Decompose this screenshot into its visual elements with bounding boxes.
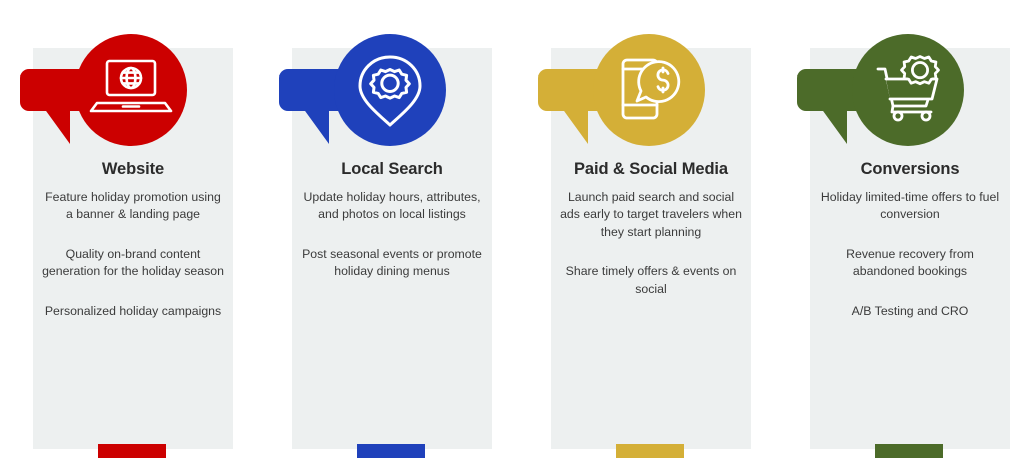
laptop-globe-icon: [91, 61, 171, 111]
icon-circle: [852, 34, 964, 146]
card-paragraph: Share timely offers & events on social: [559, 263, 743, 298]
accent-bar: [616, 444, 684, 458]
cart-gear-icon: [878, 57, 939, 121]
card-body-paid-social-media: Paid & Social Media Launch paid search a…: [551, 160, 751, 298]
card-paid-social-media[interactable]: Paid & Social Media Launch paid search a…: [551, 48, 751, 449]
card-paragraph: A/B Testing and CRO: [818, 303, 1002, 320]
icon-circle: [334, 34, 446, 146]
speech-bubble-shape: [538, 69, 658, 144]
speech-bubble-shape: [797, 69, 917, 144]
phone-dollar-bubble-icon: [623, 60, 679, 118]
accent-bar: [875, 444, 943, 458]
card-local-search[interactable]: Local Search Update holiday hours, attri…: [292, 48, 492, 449]
card-paragraph: Holiday limited-time offers to fuel conv…: [818, 189, 1002, 224]
icon-circle: [593, 34, 705, 146]
card-body-local-search: Local Search Update holiday hours, attri…: [292, 160, 492, 281]
card-paragraph: Post seasonal events or promote holiday …: [300, 246, 484, 281]
card-body-conversions: Conversions Holiday limited-time offers …: [810, 160, 1010, 320]
card-conversions[interactable]: Conversions Holiday limited-time offers …: [810, 48, 1010, 449]
card-title: Local Search: [300, 160, 484, 180]
card-website[interactable]: Website Feature holiday promotion using …: [33, 48, 233, 449]
card-title: Paid & Social Media: [559, 160, 743, 180]
card-paragraph: Feature holiday promotion using a banner…: [41, 189, 225, 224]
card-paragraph: Personalized holiday campaigns: [41, 303, 225, 320]
icon-circle: [75, 34, 187, 146]
infographic-board: Website Feature holiday promotion using …: [0, 0, 1024, 467]
accent-bar: [98, 444, 166, 458]
card-paragraph: Quality on-brand content generation for …: [41, 246, 225, 281]
card-title: Conversions: [818, 160, 1002, 180]
card-paragraph: Update holiday hours, attributes, and ph…: [300, 189, 484, 224]
card-body-website: Website Feature holiday promotion using …: [33, 160, 233, 320]
card-paragraph: Revenue recovery from abandoned bookings: [818, 246, 1002, 281]
accent-bar: [357, 444, 425, 458]
card-title: Website: [41, 160, 225, 180]
map-pin-gear-icon: [360, 57, 420, 125]
card-paragraph: Launch paid search and social ads early …: [559, 189, 743, 241]
speech-bubble-shape: [20, 69, 140, 144]
speech-bubble-shape: [279, 69, 399, 144]
